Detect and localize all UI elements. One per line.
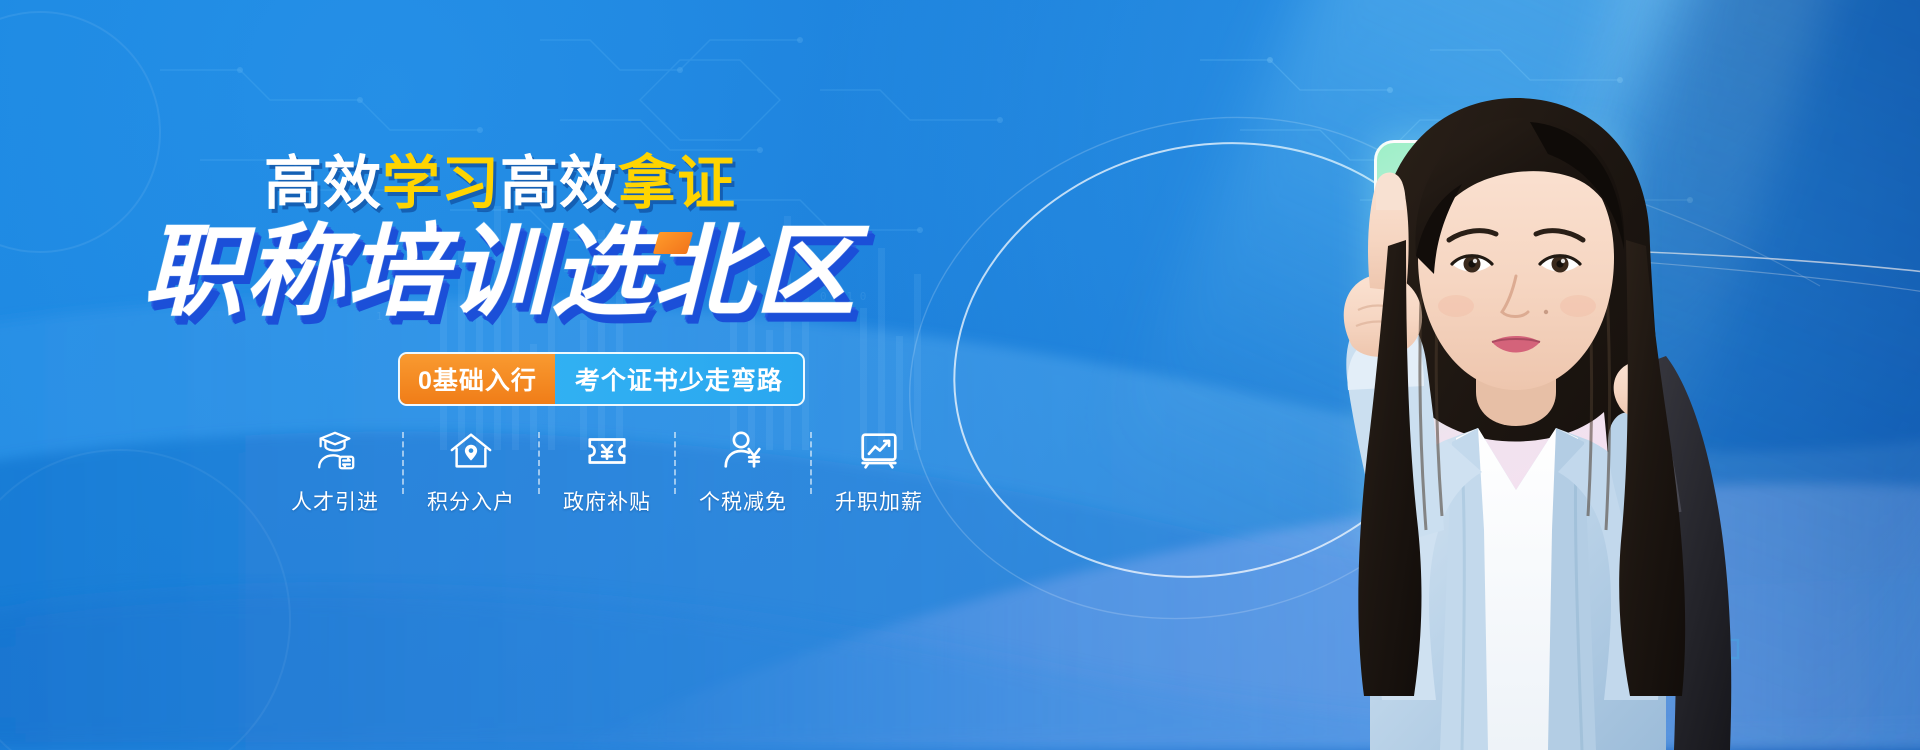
feature-label: 升职加薪 — [835, 486, 923, 516]
feature-item-taxcut[interactable]: 个税减免 — [676, 428, 810, 516]
feature-label: 政府补贴 — [563, 486, 651, 516]
headline-primary: 职称培训选北区 — [0, 222, 1000, 322]
feature-list: 人才引进 积分入户 — [268, 428, 946, 516]
feature-item-talent[interactable]: 人才引进 — [268, 428, 402, 516]
headline-seg-4: 拿证 — [618, 151, 736, 216]
headline-seg-2: 学习 — [382, 151, 500, 216]
promo-banner: 2 39 1 0 1 0 0 1 1 0 — [0, 0, 1920, 750]
ticket-yuan-icon — [584, 428, 630, 474]
chart-board-icon — [856, 428, 902, 474]
feature-item-subsidy[interactable]: 政府补贴 — [540, 428, 674, 516]
badge-highlight: 0基础入行 — [400, 354, 555, 404]
feature-label: 积分入户 — [427, 486, 515, 516]
headline-seg-3: 高效 — [500, 151, 618, 216]
person-yuan-icon — [720, 428, 766, 474]
model-stage: 微笑的职业女性，食指向上指，身穿浅蓝色西装外套与白色T恤，肩背深色背包 — [1100, 0, 1920, 750]
house-pin-icon — [448, 428, 494, 474]
copy-block: 高效学习高效拿证 职称培训选北区 0基础入行 考个证书少走弯路 — [0, 0, 1100, 750]
feature-label: 人才引进 — [291, 486, 379, 516]
headline-secondary: 高效学习高效拿证 — [0, 155, 1000, 213]
badge-tagline: 考个证书少走弯路 — [555, 354, 803, 404]
feature-label: 个税减免 — [699, 486, 787, 516]
model-photo: 微笑的职业女性，食指向上指，身穿浅蓝色西装外套与白色T恤，肩背深色背包 — [1230, 60, 1790, 750]
feature-item-residency[interactable]: 积分入户 — [404, 428, 538, 516]
headline-seg-1: 高效 — [264, 151, 382, 216]
feature-item-promotion[interactable]: 升职加薪 — [812, 428, 946, 516]
orange-accent-mark — [653, 232, 693, 254]
tagline-badge[interactable]: 0基础入行 考个证书少走弯路 — [398, 352, 805, 406]
graduate-exchange-icon — [312, 428, 358, 474]
